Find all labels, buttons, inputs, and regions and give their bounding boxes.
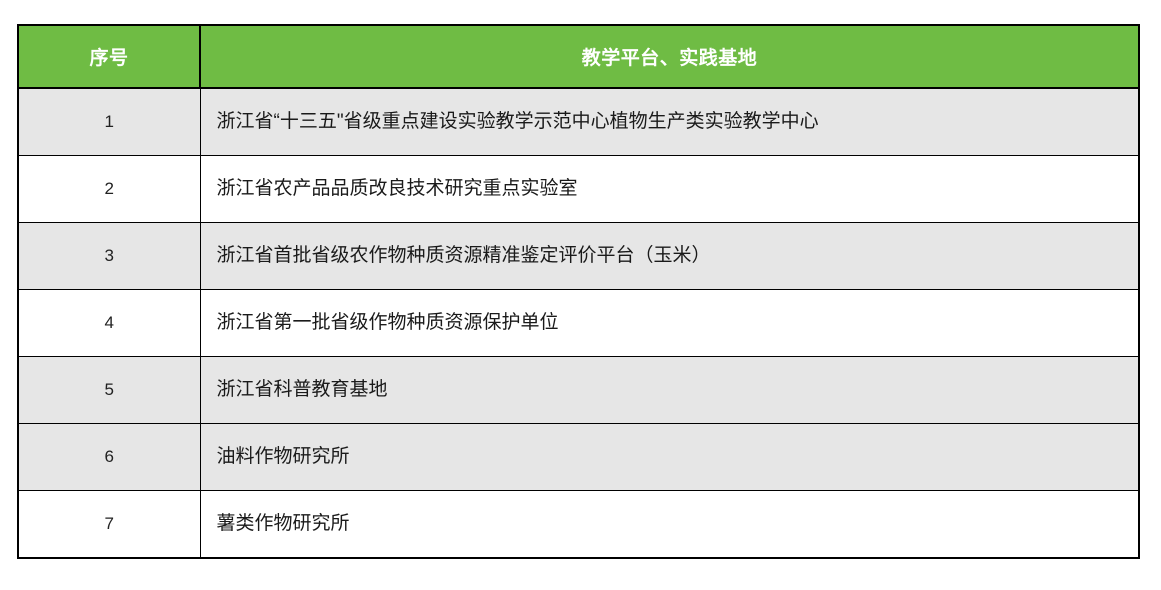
cell-platform-name: 薯类作物研究所 <box>200 491 1139 559</box>
cell-platform-name: 浙江省第一批省级作物种质资源保护单位 <box>200 290 1139 357</box>
table-row: 6油料作物研究所 <box>18 424 1139 491</box>
table-row: 2浙江省农产品品质改良技术研究重点实验室 <box>18 156 1139 223</box>
cell-index: 1 <box>18 88 200 156</box>
table-body: 1浙江省“十三五"省级重点建设实验教学示范中心植物生产类实验教学中心2浙江省农产… <box>18 88 1139 558</box>
cell-platform-name: 油料作物研究所 <box>200 424 1139 491</box>
cell-index: 7 <box>18 491 200 559</box>
cell-platform-name: 浙江省首批省级农作物种质资源精准鉴定评价平台（玉米） <box>200 223 1139 290</box>
cell-index: 4 <box>18 290 200 357</box>
cell-index: 2 <box>18 156 200 223</box>
table-row: 7薯类作物研究所 <box>18 491 1139 559</box>
cell-index: 6 <box>18 424 200 491</box>
cell-index: 5 <box>18 357 200 424</box>
table-row: 3浙江省首批省级农作物种质资源精准鉴定评价平台（玉米） <box>18 223 1139 290</box>
table-row: 5浙江省科普教育基地 <box>18 357 1139 424</box>
column-header-name: 教学平台、实践基地 <box>200 25 1139 88</box>
table-header-row: 序号 教学平台、实践基地 <box>18 25 1139 88</box>
cell-index: 3 <box>18 223 200 290</box>
table-row: 4浙江省第一批省级作物种质资源保护单位 <box>18 290 1139 357</box>
cell-platform-name: 浙江省科普教育基地 <box>200 357 1139 424</box>
page-root: 序号 教学平台、实践基地 1浙江省“十三五"省级重点建设实验教学示范中心植物生产… <box>0 0 1161 590</box>
table-row: 1浙江省“十三五"省级重点建设实验教学示范中心植物生产类实验教学中心 <box>18 88 1139 156</box>
teaching-platform-table: 序号 教学平台、实践基地 1浙江省“十三五"省级重点建设实验教学示范中心植物生产… <box>17 24 1140 559</box>
column-header-index: 序号 <box>18 25 200 88</box>
cell-platform-name: 浙江省农产品品质改良技术研究重点实验室 <box>200 156 1139 223</box>
teaching-platform-table-container: 序号 教学平台、实践基地 1浙江省“十三五"省级重点建设实验教学示范中心植物生产… <box>17 24 1138 559</box>
table-header: 序号 教学平台、实践基地 <box>18 25 1139 88</box>
cell-platform-name: 浙江省“十三五"省级重点建设实验教学示范中心植物生产类实验教学中心 <box>200 88 1139 156</box>
